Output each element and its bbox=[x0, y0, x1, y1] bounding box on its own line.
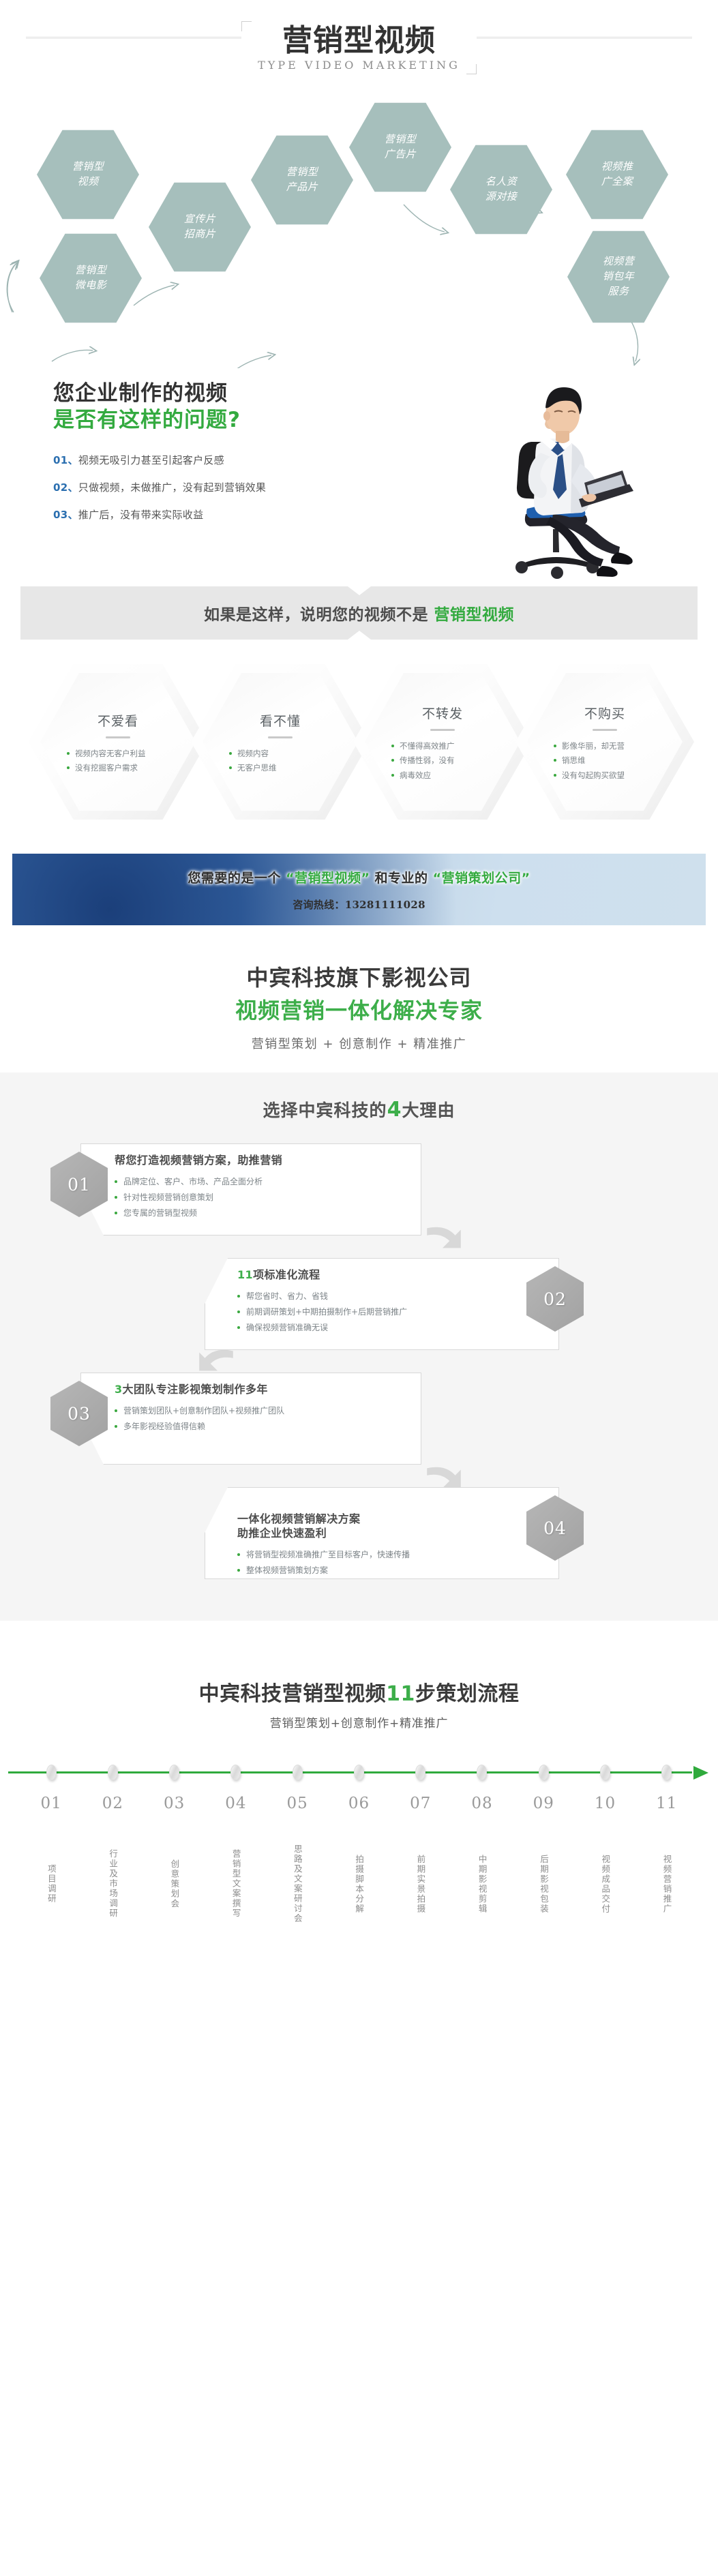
steps-row: 01 项目调研 02 行业及市场调研 03 创意策划会 04 营销型文案撰写 0… bbox=[0, 1795, 718, 1949]
hex-tile[interactable]: 营销型 视频 bbox=[37, 128, 139, 221]
problem-section: 您企业制作的视频 是否有这样的问题? 01、视频无吸引力甚至引起客户反感 02、… bbox=[0, 368, 718, 586]
step-label: 项目调研 bbox=[44, 1819, 57, 1949]
reason-card-body: 11项标准化流程 帮您省时、省力、省钱 前期调研策划+中期拍摄制作+后期营销推广… bbox=[237, 1268, 551, 1336]
reason-card-number: 02 bbox=[543, 1289, 567, 1309]
problem-item-number: 02、 bbox=[53, 481, 78, 494]
timeline-dot bbox=[477, 1765, 487, 1780]
hex-tile[interactable]: 名人资 源对接 bbox=[450, 143, 552, 236]
timeline-dot bbox=[661, 1765, 672, 1780]
reason-card-bullets: 将营销型视频准确推广至目标客户，快速传播 整体视频营销策划方案 bbox=[237, 1547, 551, 1579]
list-item: 视频内容无客户利益 bbox=[67, 747, 169, 761]
step-label: 后期影视包装 bbox=[537, 1819, 550, 1949]
reasons-title-number: 4 bbox=[387, 1098, 402, 1122]
step-number: 01 bbox=[40, 1795, 61, 1812]
reason-card-body: 帮您打造视频营销方案，助推营销 品牌定位、客户、市场、产品全面分析 针对性视频营… bbox=[115, 1153, 415, 1222]
list-item: 没有挖掘客户需求 bbox=[67, 761, 169, 775]
list-item: 帮您省时、省力、省钱 bbox=[237, 1289, 551, 1304]
timeline-dot-cell bbox=[451, 1756, 513, 1780]
step-item[interactable]: 03 创意策划会 bbox=[144, 1795, 205, 1949]
step-item[interactable]: 11 视频营销推广 bbox=[636, 1795, 698, 1949]
list-item: 您专属的营销型视频 bbox=[115, 1205, 415, 1221]
problem-hex-title: 不转发 bbox=[422, 704, 463, 722]
timeline-dot-cell bbox=[574, 1756, 635, 1780]
step-number: 09 bbox=[533, 1795, 554, 1812]
problem-hex-bullets: 不懂得高效推广 传播性弱，没有 病毒效应 bbox=[391, 739, 494, 783]
list-item: 前期调研策划+中期拍摄制作+后期营销推广 bbox=[237, 1304, 551, 1320]
cta-quote-2: “营销策划公司” bbox=[433, 871, 530, 886]
hex-line2: 微电影 bbox=[75, 279, 107, 291]
reason-card-number: 03 bbox=[68, 1404, 91, 1424]
list-item: 销思维 bbox=[554, 753, 656, 768]
hex-line2: 源对接 bbox=[485, 190, 518, 203]
step-label: 行业及市场调研 bbox=[106, 1819, 119, 1949]
cta-content: 您需要的是一个 “营销型视频” 和专业的 “营销策划公司” 咨询热线：13281… bbox=[12, 854, 706, 925]
timeline-dot bbox=[539, 1765, 549, 1780]
timeline-dots bbox=[0, 1756, 718, 1780]
timeline-dot-cell bbox=[328, 1756, 389, 1780]
reason-card-heading: 11项标准化流程 bbox=[237, 1268, 551, 1283]
step-item[interactable]: 02 行业及市场调研 bbox=[82, 1795, 143, 1949]
problem-hex-divider bbox=[430, 729, 455, 731]
problem-item-number: 03、 bbox=[53, 509, 78, 521]
list-item: 影像华丽，却无营 bbox=[554, 739, 656, 753]
step-label: 营销型文案撰写 bbox=[229, 1819, 242, 1949]
list-item: 多年影视经验值得信赖 bbox=[115, 1419, 415, 1435]
reason-card-number: 01 bbox=[68, 1175, 91, 1195]
hex-tile[interactable]: 宣传片 招商片 bbox=[149, 181, 251, 273]
hex-tile[interactable]: 营销型 产品片 bbox=[251, 134, 353, 226]
hex-line2: 招商片 bbox=[184, 228, 216, 240]
step-item[interactable]: 04 营销型文案撰写 bbox=[205, 1795, 267, 1949]
reason-card-heading-text: 帮您打造视频营销方案，助推营销 bbox=[115, 1154, 282, 1167]
reasons-title-after: 大理由 bbox=[402, 1100, 455, 1120]
step-number: 10 bbox=[595, 1795, 616, 1812]
steps-timeline bbox=[0, 1756, 718, 1788]
grey-banner: 如果是这样，说明您的视频不是 营销型视频 bbox=[20, 586, 698, 640]
hex-tile[interactable]: 视频推 广全案 bbox=[566, 128, 668, 221]
step-label: 前期实景拍摄 bbox=[414, 1819, 427, 1949]
reasons-title: 选择中宾科技的4大理由 bbox=[0, 1097, 718, 1122]
page-header: 营销型视频 TYPE VIDEO MARKETING bbox=[0, 0, 718, 95]
hex-line2: 销包年 bbox=[603, 270, 635, 282]
page-subtitle-en: TYPE VIDEO MARKETING bbox=[258, 59, 460, 72]
cta-quote-1: “营销型视频” bbox=[286, 871, 370, 886]
reason-card-body: 一体化视频营销解决方案 助推企业快速盈利 将营销型视频准确推广至目标客户，快速传… bbox=[237, 1497, 551, 1579]
company-tagline: 视频营销一体化解决专家 bbox=[0, 993, 718, 1025]
timeline-dot bbox=[600, 1765, 610, 1780]
hex-tile[interactable]: 视频营 销包年 服务 bbox=[567, 229, 670, 325]
timeline-dot-cell bbox=[82, 1756, 143, 1780]
cta-hotline-label: 咨询热线： bbox=[293, 899, 345, 911]
step-number: 04 bbox=[225, 1795, 246, 1812]
problem-hex-bullets: 视频内容 无客户思维 bbox=[229, 747, 331, 776]
steps-title-before: 中宾科技营销型视频 bbox=[199, 1682, 387, 1706]
step-label: 视频成品交付 bbox=[599, 1819, 612, 1949]
problem-hex-bullets: 影像华丽，却无营 销思维 没有勾起购买欲望 bbox=[554, 739, 656, 783]
timeline-dot-cell bbox=[636, 1756, 698, 1780]
hex-line1: 营销型 bbox=[385, 133, 417, 145]
reason-card-list: 01 帮您打造视频营销方案，助推营销 品牌定位、客户、市场、产品全面分析 针对性… bbox=[0, 1139, 718, 1589]
problem-hex-body: 看不懂 视频内容 无客户思维 bbox=[191, 664, 370, 820]
reason-card-heading: 帮您打造视频营销方案，助推营销 bbox=[115, 1153, 415, 1168]
businessman-svg bbox=[451, 368, 676, 580]
hex-line1: 营销型 bbox=[72, 160, 104, 173]
step-number: 07 bbox=[410, 1795, 431, 1812]
list-item: 将营销型视频准确推广至目标客户，快速传播 bbox=[237, 1547, 551, 1563]
step-number: 03 bbox=[164, 1795, 185, 1812]
problem-hex-body: 不购买 影像华丽，却无营 销思维 没有勾起购买欲望 bbox=[515, 664, 694, 820]
timeline-dot-cell bbox=[144, 1756, 205, 1780]
problem-hex-divider bbox=[268, 736, 293, 738]
hex-line1: 营销型 bbox=[75, 264, 107, 276]
cta-banner: 您需要的是一个 “营销型视频” 和专业的 “营销策划公司” 咨询热线：13281… bbox=[12, 854, 706, 925]
problem-item-text: 视频无吸引力甚至引起客户反感 bbox=[78, 454, 224, 466]
problem-hex-title: 不购买 bbox=[584, 704, 625, 722]
timeline-dot-cell bbox=[205, 1756, 267, 1780]
steps-title: 中宾科技营销型视频11步策划流程 bbox=[0, 1677, 718, 1707]
hex-line2: 视频 bbox=[77, 175, 98, 188]
step-label: 中期影视剪辑 bbox=[475, 1819, 488, 1949]
reason-card-heading: 3大团队专注影视策划制作多年 bbox=[115, 1382, 415, 1397]
reason-card-heading: 一体化视频营销解决方案 助推企业快速盈利 bbox=[237, 1497, 551, 1541]
timeline-dot-cell bbox=[513, 1756, 574, 1780]
grey-banner-highlight: 营销型视频 bbox=[434, 606, 515, 624]
step-item[interactable]: 10 视频成品交付 bbox=[574, 1795, 635, 1949]
cta-text-a: 您需要的是一个 bbox=[188, 871, 286, 886]
step-item[interactable]: 08 中期影视剪辑 bbox=[451, 1795, 513, 1949]
step-label: 拍摄脚本分解 bbox=[353, 1819, 365, 1949]
hex-line2: 广全案 bbox=[601, 175, 633, 188]
problem-hex-divider bbox=[593, 729, 617, 731]
step-number: 02 bbox=[102, 1795, 123, 1812]
connector-arrow-icon bbox=[423, 1220, 465, 1262]
timeline-dot-cell bbox=[20, 1756, 82, 1780]
timeline-dot bbox=[169, 1765, 179, 1780]
reason-card-heading-hi: 11 bbox=[237, 1268, 253, 1281]
landing-page: 营销型视频 TYPE VIDEO MARKETING bbox=[0, 0, 718, 1976]
step-number: 11 bbox=[656, 1795, 677, 1812]
timeline-dot bbox=[354, 1765, 364, 1780]
timeline-dot-cell bbox=[390, 1756, 451, 1780]
company-title: 中宾科技旗下影视公司 bbox=[0, 961, 718, 992]
reasons-section: 选择中宾科技的4大理由 01 帮您打造视频营销方案，助推 bbox=[0, 1073, 718, 1621]
reason-card-heading-hi: 3 bbox=[115, 1383, 123, 1396]
steps-title-after: 步策划流程 bbox=[415, 1682, 520, 1706]
hex-line2: 广告片 bbox=[385, 148, 417, 160]
list-item: 视频内容 bbox=[229, 747, 331, 761]
problem-hex-title: 看不懂 bbox=[260, 711, 301, 730]
problem-hex-card[interactable]: 不购买 影像华丽，却无营 销思维 没有勾起购买欲望 bbox=[515, 664, 694, 820]
hex-line3: 服务 bbox=[608, 285, 629, 297]
problem-hex-body: 不爱看 视频内容无客户利益 没有挖掘客户需求 bbox=[29, 664, 207, 820]
list-item: 品牌定位、客户、市场、产品全面分析 bbox=[115, 1174, 415, 1190]
timeline-dot bbox=[230, 1765, 241, 1780]
cta-headline: 您需要的是一个 “营销型视频” 和专业的 “营销策划公司” bbox=[188, 868, 530, 886]
reason-card-body: 3大团队专注影视策划制作多年 营销策划团队+创意制作团队+视频推广团队 多年影视… bbox=[115, 1382, 415, 1435]
steps-title-number: 11 bbox=[386, 1682, 415, 1706]
company-subtitle: 营销型策划 + 创意制作 + 精准推广 bbox=[0, 1034, 718, 1052]
list-item: 病毒效应 bbox=[391, 768, 494, 783]
problem-hex-title: 不爱看 bbox=[98, 711, 138, 730]
hex-tile[interactable]: 营销型 微电影 bbox=[40, 232, 142, 325]
hex-line1: 视频推 bbox=[601, 160, 633, 173]
problem-hex-card[interactable]: 看不懂 视频内容 无客户思维 bbox=[191, 664, 370, 820]
grey-banner-text: 如果是这样，说明您的视频不是 营销型视频 bbox=[204, 601, 514, 625]
list-item: 无客户思维 bbox=[229, 761, 331, 775]
list-item: 确保视频营销准确无误 bbox=[237, 1320, 551, 1336]
timeline-dot bbox=[415, 1765, 425, 1780]
step-item[interactable]: 07 前期实景拍摄 bbox=[390, 1795, 451, 1949]
list-item: 针对性视频营销创意策划 bbox=[115, 1190, 415, 1205]
hex-line2: 产品片 bbox=[286, 181, 318, 193]
list-item: 不懂得高效推广 bbox=[391, 739, 494, 753]
problem-item-number: 01、 bbox=[53, 454, 78, 466]
cta-text-b: 和专业的 bbox=[370, 871, 432, 886]
hex-line1: 视频营 bbox=[603, 255, 635, 267]
step-item[interactable]: 09 后期影视包装 bbox=[513, 1795, 574, 1949]
problem-item-text: 推广后，没有带来实际收益 bbox=[78, 509, 204, 521]
list-item: 传播性弱，没有 bbox=[391, 753, 494, 768]
header-title-box: 营销型视频 TYPE VIDEO MARKETING bbox=[241, 21, 477, 74]
list-item: 没有勾起购买欲望 bbox=[554, 768, 656, 783]
hex-tile[interactable]: 营销型 广告片 bbox=[349, 101, 451, 194]
grey-banner-normal: 如果是这样，说明您的视频不是 bbox=[204, 606, 434, 624]
step-label: 思路及文案研讨会 bbox=[291, 1819, 304, 1949]
reason-card-bullets: 帮您省时、省力、省钱 前期调研策划+中期拍摄制作+后期营销推广 确保视频营销准确… bbox=[237, 1289, 551, 1336]
reason-card-heading-tail: 项标准化流程 bbox=[253, 1268, 320, 1281]
reasons-title-before: 选择中宾科技的 bbox=[263, 1100, 387, 1120]
problem-item-text: 只做视频，未做推广，没有起到营销效果 bbox=[78, 481, 266, 494]
cta-hotline-number: 13281111028 bbox=[345, 899, 425, 911]
reason-card-heading-tail: 大团队专注影视策划制作多年 bbox=[123, 1383, 268, 1396]
reason-card-bullets: 品牌定位、客户、市场、产品全面分析 针对性视频营销创意策划 您专属的营销型视频 bbox=[115, 1174, 415, 1222]
step-number: 08 bbox=[471, 1795, 492, 1812]
list-item: 整体视频营销策划方案 bbox=[237, 1563, 551, 1578]
four-problem-hexes: 不爱看 视频内容无客户利益 没有挖掘客户需求 看不懂 视频内容 无客户思维 bbox=[0, 657, 718, 835]
company-intro: 中宾科技旗下影视公司 视频营销一体化解决专家 营销型策划 + 创意制作 + 精准… bbox=[0, 925, 718, 1073]
step-label: 视频营销推广 bbox=[660, 1819, 673, 1949]
hex-line1: 宣传片 bbox=[184, 213, 216, 225]
problem-hex-card[interactable]: 不爱看 视频内容无客户利益 没有挖掘客户需求 bbox=[29, 664, 207, 820]
problem-hex-card[interactable]: 不转发 不懂得高效推广 传播性弱，没有 病毒效应 bbox=[353, 664, 532, 820]
service-hex-map: 营销型 视频 宣传片 招商片 营销型 微电影 营销型 产品片 营销型 广告片 名… bbox=[0, 95, 718, 368]
cta-hotline[interactable]: 咨询热线：13281111028 bbox=[293, 897, 425, 912]
problem-hex-divider bbox=[106, 736, 130, 738]
step-item[interactable]: 05 思路及文案研讨会 bbox=[267, 1795, 328, 1949]
step-item[interactable]: 06 拍摄脚本分解 bbox=[328, 1795, 389, 1949]
reason-card-heading-text: 一体化视频营销解决方案 助推企业快速盈利 bbox=[237, 1512, 360, 1540]
reason-card-number: 04 bbox=[543, 1518, 567, 1538]
steps-section: 中宾科技营销型视频11步策划流程 营销型策划+创意制作+精准推广 bbox=[0, 1621, 718, 1976]
step-number: 05 bbox=[287, 1795, 308, 1812]
step-label: 创意策划会 bbox=[168, 1819, 181, 1949]
timeline-dot bbox=[108, 1765, 118, 1780]
businessman-illustration bbox=[451, 368, 676, 580]
problem-hex-body: 不转发 不懂得高效推广 传播性弱，没有 病毒效应 bbox=[353, 664, 532, 820]
page-title: 营销型视频 bbox=[258, 25, 460, 57]
problem-hex-bullets: 视频内容无客户利益 没有挖掘客户需求 bbox=[67, 747, 169, 776]
hex-line1: 营销型 bbox=[286, 166, 318, 178]
timeline-dot-cell bbox=[267, 1756, 328, 1780]
hex-line1: 名人资 bbox=[485, 175, 518, 188]
step-number: 06 bbox=[348, 1795, 370, 1812]
reason-card-bullets: 营销策划团队+创意制作团队+视频推广团队 多年影视经验值得信赖 bbox=[115, 1403, 415, 1435]
step-item[interactable]: 01 项目调研 bbox=[20, 1795, 82, 1949]
timeline-dot bbox=[293, 1765, 303, 1780]
steps-subtitle: 营销型策划+创意制作+精准推广 bbox=[0, 1713, 718, 1731]
timeline-dot bbox=[46, 1765, 57, 1780]
list-item: 营销策划团队+创意制作团队+视频推广团队 bbox=[115, 1403, 415, 1419]
grey-banner-section: 如果是这样，说明您的视频不是 营销型视频 bbox=[0, 586, 718, 640]
